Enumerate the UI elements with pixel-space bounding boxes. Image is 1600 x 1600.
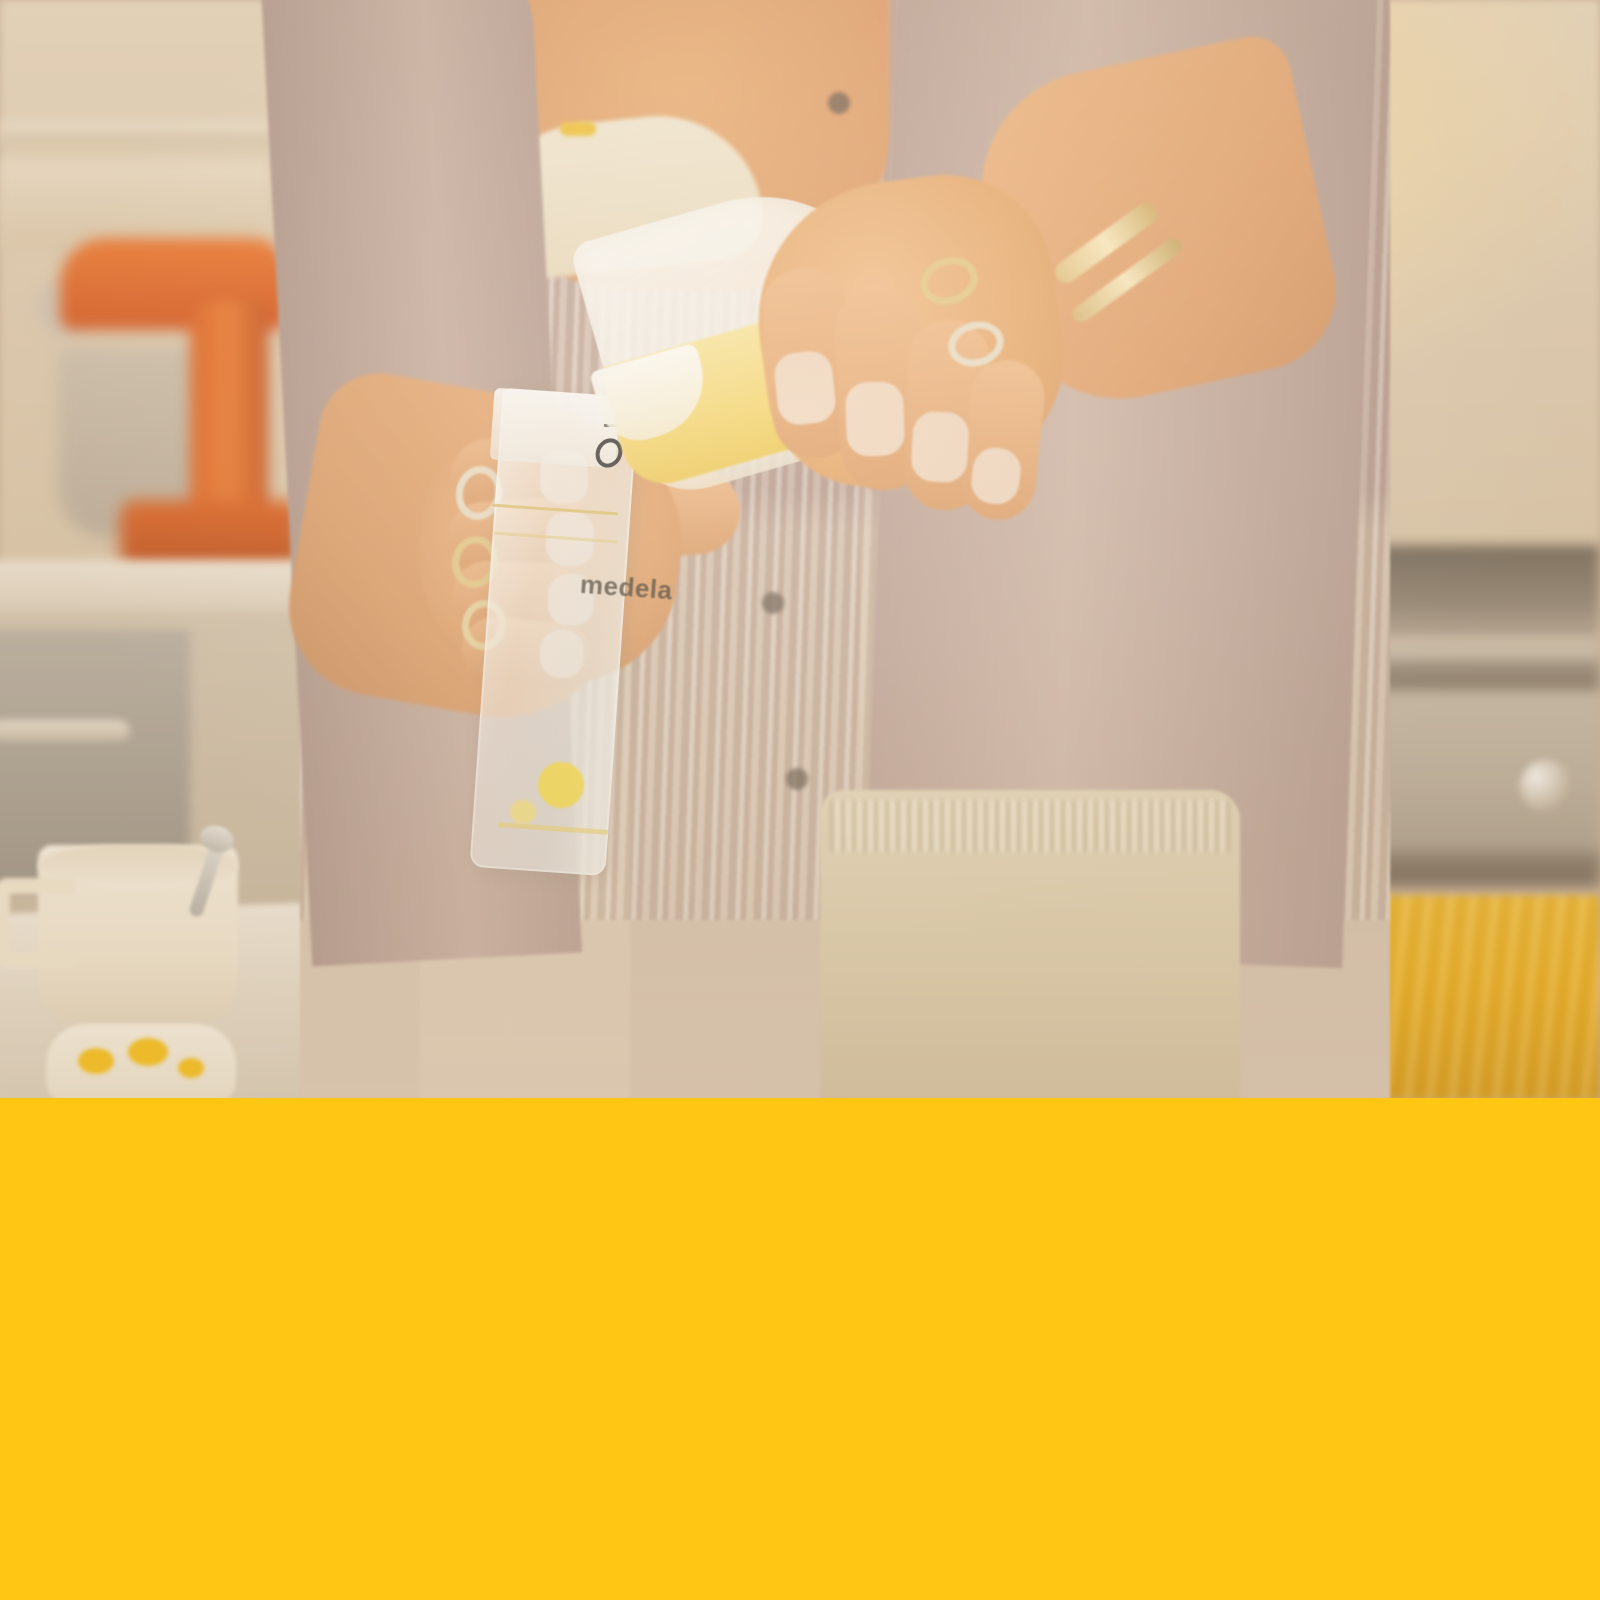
product-marketing-image: medela More Milk, Faster Proven to deliv… <box>0 0 1600 1600</box>
yellow-dot <box>178 1058 204 1078</box>
bag-yellow-dot <box>510 800 536 824</box>
bag-brand-text: medela <box>579 569 674 606</box>
shirt-button <box>828 92 850 114</box>
message-band: More Milk, Faster Proven to deliver up t… <box>0 1098 1600 1600</box>
yellow-dot <box>128 1038 168 1066</box>
bra-accent <box>560 122 596 136</box>
upper-cabinet <box>0 160 270 250</box>
shirt-button <box>762 592 784 614</box>
mug-handle <box>0 878 74 968</box>
stand-mixer-column <box>190 300 268 530</box>
dishwasher-handle <box>0 720 130 742</box>
shirt-button <box>786 768 808 790</box>
fingernail <box>772 349 837 427</box>
pants-waistband <box>830 800 1230 852</box>
bag-yellow-dot <box>538 762 584 808</box>
lifestyle-photo: medela <box>0 0 1600 1100</box>
yellow-dot <box>78 1048 114 1074</box>
range-knob <box>1520 760 1572 812</box>
upper-shelf <box>0 120 300 146</box>
fingernail <box>845 381 906 457</box>
fingernail <box>910 411 970 484</box>
